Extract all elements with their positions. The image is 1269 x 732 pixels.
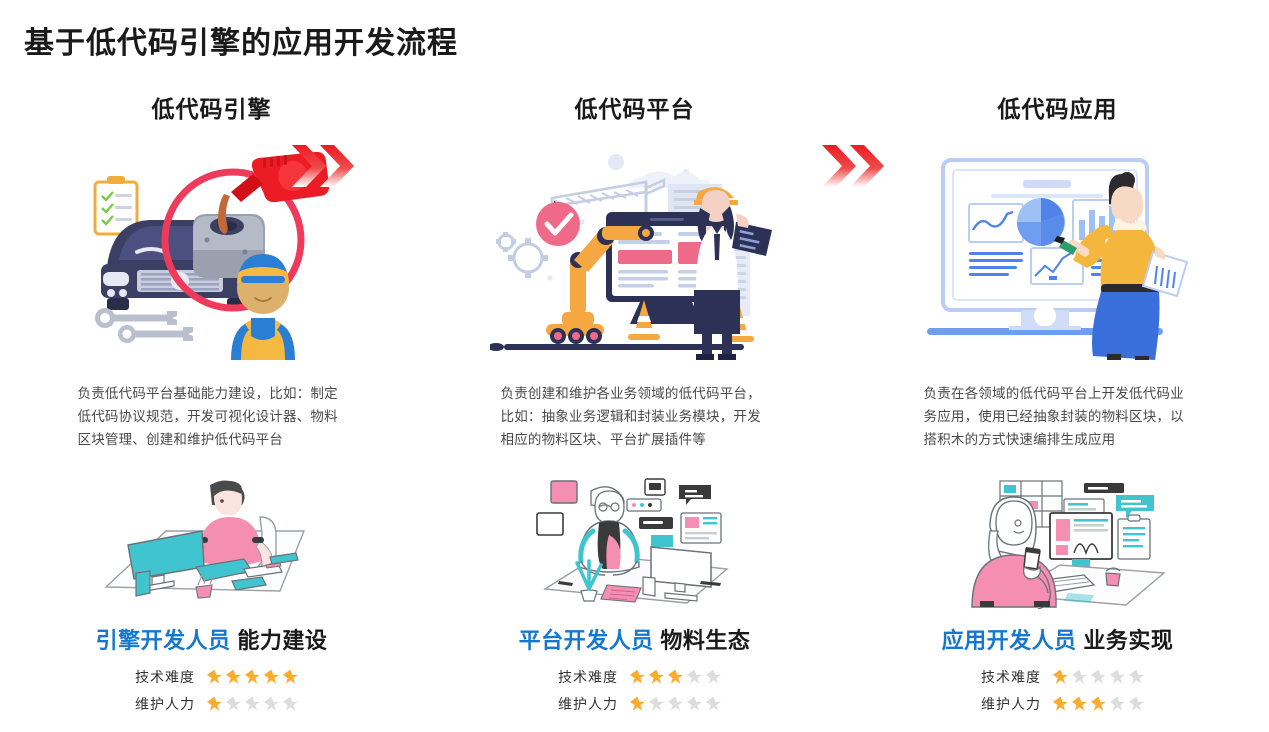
role-focus: 业务实现 bbox=[1083, 628, 1173, 653]
column-description: 负责创建和维护各业务领域的低代码平台，比如：抽象业务逻辑和封装业务模块，开发相应… bbox=[501, 382, 769, 451]
star-empty-icon bbox=[706, 697, 721, 712]
stars-manpower bbox=[630, 697, 721, 712]
role-focus: 能力建设 bbox=[237, 628, 327, 653]
star-empty-icon bbox=[1091, 670, 1106, 685]
flow-column-engine: 低代码引擎 bbox=[0, 92, 423, 714]
ratings: 技术难度 维护人力 bbox=[125, 667, 298, 714]
star-filled-icon bbox=[1053, 697, 1068, 712]
star-empty-icon bbox=[1110, 697, 1125, 712]
star-empty-icon bbox=[1072, 670, 1087, 685]
flow-arrow-1-icon bbox=[290, 143, 356, 189]
star-filled-icon bbox=[207, 670, 222, 685]
ratings: 技术难度 维护人力 bbox=[971, 667, 1144, 714]
designer-with-ui-cards-illustration bbox=[515, 469, 755, 609]
rating-row-difficulty: 技术难度 bbox=[971, 667, 1144, 687]
column-description: 负责在各领域的低代码平台上开发低代码业务应用，使用已经抽象封装的物料区块，以搭积… bbox=[924, 382, 1192, 451]
developer-at-desk-illustration bbox=[92, 469, 332, 609]
rating-label-difficulty: 技术难度 bbox=[971, 667, 1041, 687]
stars-difficulty bbox=[630, 670, 721, 685]
page-title: 基于低代码引擎的应用开发流程 bbox=[24, 18, 458, 62]
star-empty-icon bbox=[264, 697, 279, 712]
star-empty-icon bbox=[687, 697, 702, 712]
column-header: 低代码应用 bbox=[998, 92, 1118, 126]
star-empty-icon bbox=[1129, 697, 1144, 712]
role-name: 引擎开发人员 bbox=[96, 628, 231, 653]
star-filled-icon bbox=[264, 670, 279, 685]
star-filled-icon bbox=[649, 670, 664, 685]
rating-row-manpower: 维护人力 bbox=[548, 694, 721, 714]
column-description: 负责低代码平台基础能力建设，比如：制定低代码协议规范，开发可视化设计器、物料区块… bbox=[78, 382, 346, 451]
analyst-with-coffee-at-desk-illustration bbox=[938, 469, 1178, 609]
ratings: 技术难度 维护人力 bbox=[548, 667, 721, 714]
rating-row-manpower: 维护人力 bbox=[125, 694, 298, 714]
rating-label-manpower: 维护人力 bbox=[548, 694, 618, 714]
column-header: 低代码引擎 bbox=[152, 92, 272, 126]
flow-column-platform: 低代码平台 bbox=[423, 92, 846, 714]
star-filled-icon bbox=[226, 670, 241, 685]
star-empty-icon bbox=[283, 697, 298, 712]
rating-row-manpower: 维护人力 bbox=[971, 694, 1144, 714]
star-filled-icon bbox=[1053, 670, 1068, 685]
dashboard-monitor-presenter-illustration bbox=[913, 148, 1203, 360]
star-filled-icon bbox=[245, 670, 260, 685]
star-empty-icon bbox=[245, 697, 260, 712]
star-filled-icon bbox=[283, 670, 298, 685]
star-empty-icon bbox=[226, 697, 241, 712]
star-filled-icon bbox=[668, 670, 683, 685]
stars-difficulty bbox=[207, 670, 298, 685]
role-name: 平台开发人员 bbox=[519, 628, 654, 653]
star-filled-icon bbox=[207, 697, 222, 712]
star-empty-icon bbox=[649, 697, 664, 712]
star-empty-icon bbox=[1110, 670, 1125, 685]
star-filled-icon bbox=[630, 670, 645, 685]
stars-difficulty bbox=[1053, 670, 1144, 685]
rating-label-difficulty: 技术难度 bbox=[548, 667, 618, 687]
role-line: 应用开发人员 业务实现 bbox=[942, 623, 1174, 655]
rating-row-difficulty: 技术难度 bbox=[125, 667, 298, 687]
role-line: 平台开发人员 物料生态 bbox=[519, 623, 751, 655]
flow-arrow-2-icon bbox=[820, 143, 886, 189]
column-header: 低代码平台 bbox=[575, 92, 695, 126]
star-empty-icon bbox=[687, 670, 702, 685]
star-empty-icon bbox=[1129, 670, 1144, 685]
role-line: 引擎开发人员 能力建设 bbox=[96, 623, 328, 655]
robot-arm-monitor-engineer-illustration bbox=[490, 148, 780, 360]
rating-label-manpower: 维护人力 bbox=[125, 694, 195, 714]
stars-manpower bbox=[207, 697, 298, 712]
role-focus: 物料生态 bbox=[660, 628, 750, 653]
star-empty-icon bbox=[668, 697, 683, 712]
stars-manpower bbox=[1053, 697, 1144, 712]
star-filled-icon bbox=[630, 697, 645, 712]
star-filled-icon bbox=[1091, 697, 1106, 712]
flow-columns: 低代码引擎 bbox=[0, 92, 1269, 714]
flow-column-application: 低代码应用 bbox=[846, 92, 1269, 714]
rating-label-difficulty: 技术难度 bbox=[125, 667, 195, 687]
rating-label-manpower: 维护人力 bbox=[971, 694, 1041, 714]
role-name: 应用开发人员 bbox=[942, 628, 1077, 653]
star-filled-icon bbox=[1072, 697, 1087, 712]
star-empty-icon bbox=[706, 670, 721, 685]
rating-row-difficulty: 技术难度 bbox=[548, 667, 721, 687]
